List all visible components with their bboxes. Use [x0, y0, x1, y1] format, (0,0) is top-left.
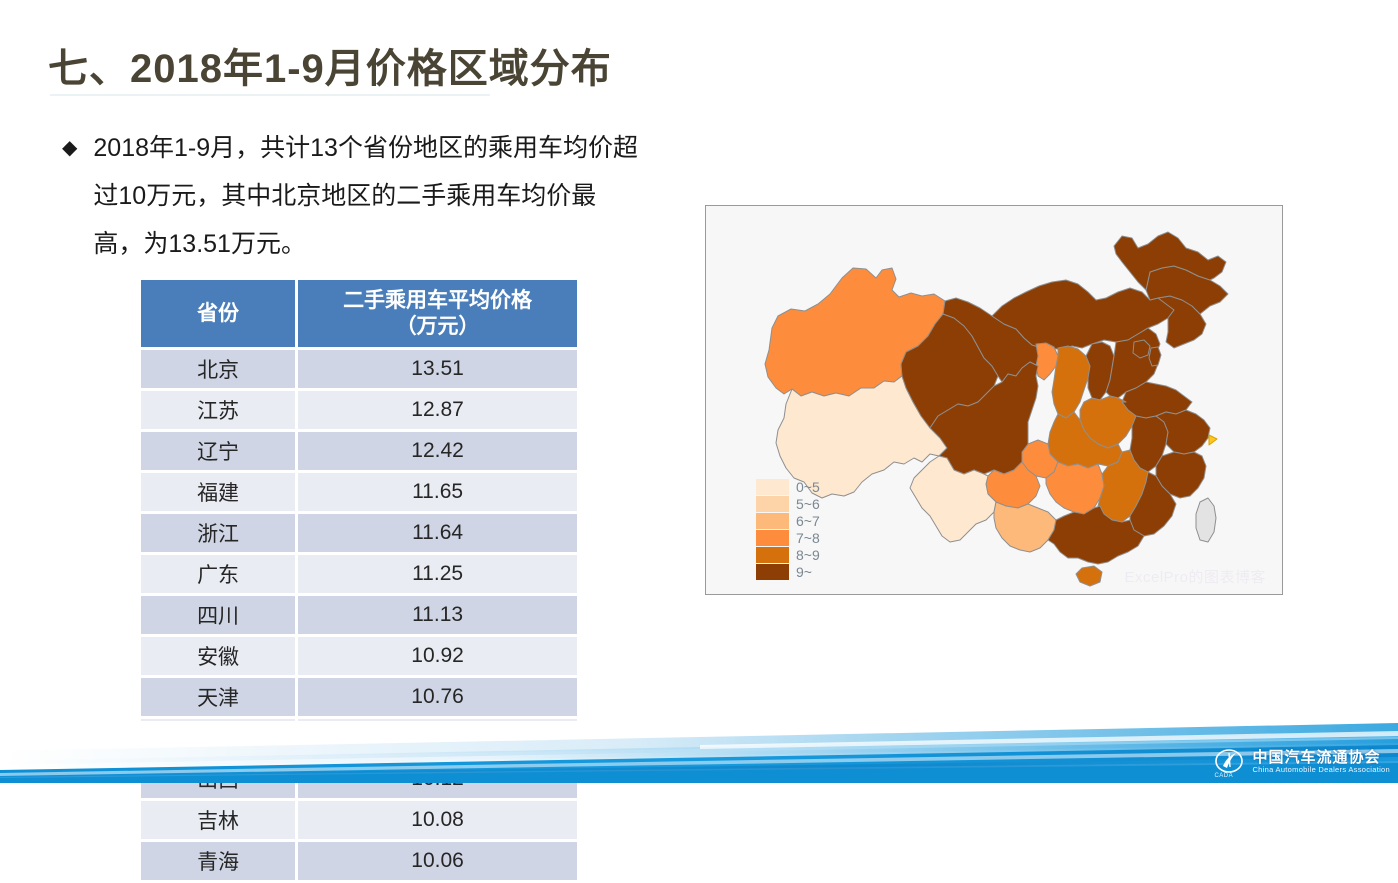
- legend-label: 5~6: [796, 496, 820, 512]
- column-header-price: 二手乘用车平均价格 （万元）: [298, 280, 577, 347]
- legend-swatch: [756, 530, 789, 546]
- legend-swatch: [756, 496, 789, 512]
- cell-price: 11.64: [298, 514, 577, 552]
- cell-price: 11.25: [298, 555, 577, 593]
- legend-swatch: [756, 547, 789, 563]
- table-row: 广东11.25: [141, 555, 577, 593]
- cell-province: 北京: [141, 350, 295, 388]
- footer-logo-text: 中国汽车流通协会 China Automobile Dealers Associ…: [1252, 750, 1390, 774]
- table-row: 辽宁12.42: [141, 432, 577, 470]
- cell-price: 11.13: [298, 596, 577, 634]
- bullet-paragraph: ◆ 2018年1-9月，共计13个省份地区的乘用车均价超过10万元，其中北京地区…: [62, 124, 642, 268]
- table-row: 福建11.65: [141, 473, 577, 511]
- cell-price: 10.08: [298, 801, 577, 839]
- cell-price: 12.87: [298, 391, 577, 429]
- column-header-price-line2: （万元）: [396, 315, 480, 338]
- org-name-en: China Automobile Dealers Association: [1252, 766, 1390, 774]
- cell-province: 青海: [141, 842, 295, 880]
- map-watermark: ExcelPro的图表博客: [1124, 566, 1266, 587]
- table-body: 北京13.51江苏12.87辽宁12.42福建11.65浙江11.64广东11.…: [141, 350, 577, 880]
- map-province-taiwan: [1196, 498, 1216, 542]
- cell-price: 10.76: [298, 678, 577, 716]
- legend-item: 0~5: [756, 478, 820, 495]
- cell-province: 福建: [141, 473, 295, 511]
- bullet-text: 2018年1-9月，共计13个省份地区的乘用车均价超过10万元，其中北京地区的二…: [93, 124, 642, 268]
- legend-label: 0~5: [796, 479, 820, 495]
- table-row: 吉林10.08: [141, 801, 577, 839]
- table-row: 北京13.51: [141, 350, 577, 388]
- legend-item: 7~8: [756, 529, 820, 546]
- ribbon-svg: [0, 721, 1398, 783]
- cell-province: 浙江: [141, 514, 295, 552]
- footer-decorative-ribbon: CADA 中国汽车流通协会 China Automobile Dealers A…: [0, 721, 1398, 783]
- table-header: 省份 二手乘用车平均价格 （万元）: [141, 280, 577, 347]
- cell-province: 吉林: [141, 801, 295, 839]
- cell-price: 10.06: [298, 842, 577, 880]
- table-row: 浙江11.64: [141, 514, 577, 552]
- province-price-table: 省份 二手乘用车平均价格 （万元） 北京13.51江苏12.87辽宁12.42福…: [138, 277, 580, 883]
- legend-label: 7~8: [796, 530, 820, 546]
- cell-province: 辽宁: [141, 432, 295, 470]
- legend-swatch: [756, 513, 789, 529]
- legend-item: 6~7: [756, 512, 820, 529]
- legend-swatch: [756, 564, 789, 580]
- legend-label: 8~9: [796, 547, 820, 563]
- legend-label: 9~: [796, 564, 812, 580]
- cell-price: 10.92: [298, 637, 577, 675]
- page-title: 七、2018年1-9月价格区域分布: [48, 36, 612, 94]
- title-divider: [50, 94, 490, 96]
- legend-label: 6~7: [796, 513, 820, 529]
- legend-item: 5~6: [756, 495, 820, 512]
- column-header-price-line1: 二手乘用车平均价格: [343, 289, 532, 312]
- column-header-province: 省份: [141, 280, 295, 347]
- logo-abbr: CADA: [1214, 773, 1233, 779]
- cell-province: 江苏: [141, 391, 295, 429]
- table-row: 四川11.13: [141, 596, 577, 634]
- table-row: 安徽10.92: [141, 637, 577, 675]
- legend-item: 9~: [756, 563, 820, 580]
- map-province-shanghai: [1209, 435, 1217, 445]
- map-province-guangxi: [994, 502, 1056, 552]
- legend-item: 8~9: [756, 546, 820, 563]
- diamond-bullet-icon: ◆: [62, 124, 77, 172]
- cada-logo-icon: CADA: [1214, 747, 1244, 777]
- table-row: 青海10.06: [141, 842, 577, 880]
- map-province-tianjin: [1149, 347, 1161, 366]
- footer-logo: CADA 中国汽车流通协会 China Automobile Dealers A…: [1214, 747, 1390, 777]
- cell-province: 四川: [141, 596, 295, 634]
- table-row: 天津10.76: [141, 678, 577, 716]
- table-header-row: 省份 二手乘用车平均价格 （万元）: [141, 280, 577, 347]
- cell-province: 安徽: [141, 637, 295, 675]
- map-legend: 0~55~66~77~88~99~: [756, 478, 820, 580]
- map-province-hainan: [1076, 566, 1102, 586]
- org-name-cn: 中国汽车流通协会: [1252, 750, 1390, 766]
- cell-province: 广东: [141, 555, 295, 593]
- cell-province: 天津: [141, 678, 295, 716]
- cell-price: 13.51: [298, 350, 577, 388]
- map-province-hunan: [1046, 462, 1104, 514]
- table-row: 江苏12.87: [141, 391, 577, 429]
- legend-swatch: [756, 479, 789, 495]
- cell-price: 12.42: [298, 432, 577, 470]
- china-choropleth-map: 0~55~66~77~88~99~ ExcelPro的图表博客: [705, 205, 1283, 595]
- cell-price: 11.65: [298, 473, 577, 511]
